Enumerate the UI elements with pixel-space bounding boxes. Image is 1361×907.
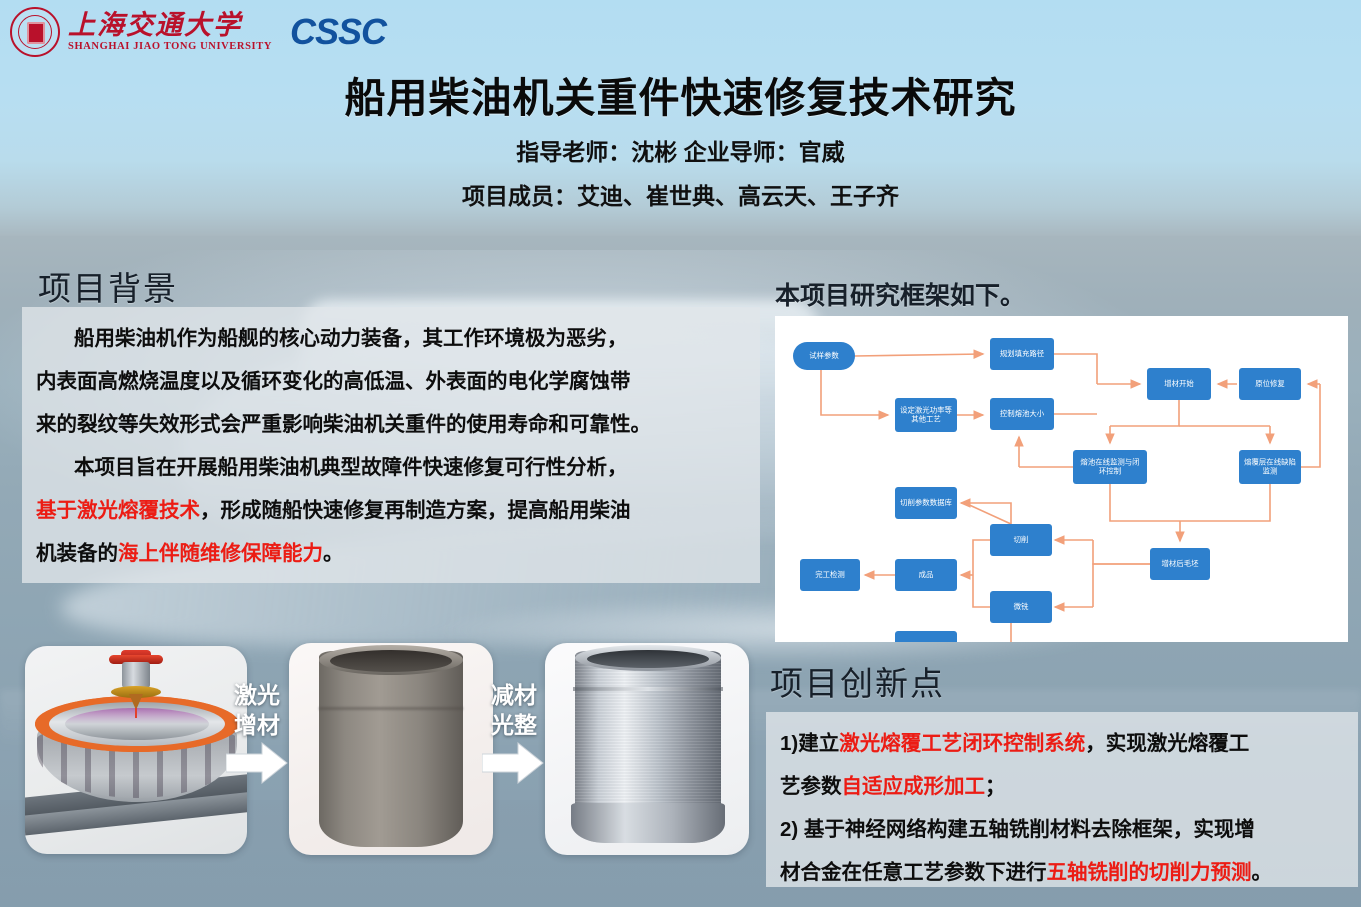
flow-node-label: 试样参数 <box>809 351 839 360</box>
background-p2-line3-pre: 机装备的 <box>36 542 118 565</box>
background-p2-line3: 机装备的海上伴随维修保障能力。 <box>36 532 746 575</box>
flow-node-set-laser-power: 设定激光功率等其他工艺 <box>895 398 957 432</box>
process-label-laser-additive: 激光 增材 <box>222 680 292 740</box>
flow-node-plan-fill-path: 规划填充路径 <box>990 338 1054 370</box>
background-highlight-sea-maintenance: 海上伴随维修保障能力 <box>118 542 323 565</box>
innovation-item1-line2-post: ； <box>985 775 1006 798</box>
nozzle-body <box>122 662 150 688</box>
sjtu-seal-icon <box>10 7 60 57</box>
innovation-highlight-adaptive: 自适应成形加工 <box>842 775 986 798</box>
innovation-highlight-closed-loop: 激光熔覆工艺闭环控制系统 <box>839 732 1085 755</box>
background-p1-line3: 来的裂纹等失效形式会严重影响柴油机关重件的使用寿命和可靠性。 <box>36 403 746 446</box>
flow-node-label: 切削 <box>1014 535 1029 544</box>
flow-node-label: 监测 <box>1263 466 1278 475</box>
innovation-item2-line2: 材合金在任意工艺参数下进行五轴铣削的切削力预测。 <box>780 851 1344 894</box>
background-p2-line3-post: 。 <box>323 542 344 565</box>
flow-node-micro-milling: 微铣 <box>990 591 1052 623</box>
members-line: 项目成员：艾迪、崔世典、高云天、王子齐 <box>0 177 1361 211</box>
laser-nozzle-icon <box>109 650 163 720</box>
innovation-item1-line2: 艺参数自适应成形加工； <box>780 765 1344 808</box>
section-heading-innovation: 项目创新点 <box>770 657 945 705</box>
flow-node-label: 其他工艺 <box>911 414 941 423</box>
process-arrow-2-icon <box>482 742 544 784</box>
flow-node-sample-params: 试样参数 <box>793 342 855 370</box>
process-label-subtractive-line1: 减材 <box>478 680 550 710</box>
process-label-subtractive-line2: 光整 <box>478 710 550 740</box>
advisors-line: 指导老师：沈彬 企业导师：官威 <box>0 133 1361 167</box>
flow-node-label: 控制熔池大小 <box>1000 409 1045 418</box>
flow-node-label: 规划填充路径 <box>1000 349 1045 358</box>
framework-flowchart-panel: 试样参数规划填充路径设定激光功率等其他工艺控制熔池大小增材开始原位修复熔池在线监… <box>775 316 1348 642</box>
flow-node-cladding-defect: 熔覆层在线缺陷监测 <box>1239 450 1301 484</box>
blank-cup-body <box>319 651 463 847</box>
flow-node-insitu-repair: 原位修复 <box>1239 368 1301 400</box>
framework-flowchart-svg: 试样参数规划填充路径设定激光功率等其他工艺控制熔池大小增材开始原位修复熔池在线监… <box>775 316 1348 642</box>
finished-cup-foot <box>571 803 725 843</box>
flow-node-product: 成品 <box>895 559 957 591</box>
background-p1-line1: 船用柴油机作为船舰的核心动力装备，其工作环境极为恶劣， <box>36 317 746 360</box>
innovation-item1-pre: 1)建立 <box>780 732 839 755</box>
page-title: 船用柴油机关重件快速修复技术研究 <box>0 64 1361 124</box>
innovation-item2-line2-post: 。 <box>1252 861 1273 884</box>
innovation-highlight-force-prediction: 五轴铣削的切削力预测 <box>1047 861 1252 884</box>
flow-node-cutting-param-db: 切削参数数据库 <box>895 487 957 519</box>
flow-node-micro-mill-param-db: 微铣参数数据库 <box>895 631 957 642</box>
background-p1-line2: 内表面高燃烧温度以及循环变化的高低温、外表面的电化学腐蚀带 <box>36 360 746 403</box>
sjtu-wordmark: 上海交通大学 SHANGHAI JIAO TONG UNIVERSITY <box>68 12 272 52</box>
process-image-finished-part <box>545 643 749 855</box>
process-image-cad-model <box>25 646 247 854</box>
innovation-text-panel: 1)建立激光熔覆工艺闭环控制系统，实现激光熔覆工 艺参数自适应成形加工； 2) … <box>766 712 1358 887</box>
blank-cup-bore <box>330 650 452 672</box>
laser-beam <box>135 708 137 718</box>
background-p2-line2-rest: ，形成随船快速修复再制造方案，提高船用柴油 <box>200 499 631 522</box>
cssc-logo: CSSC <box>290 14 386 50</box>
innovation-item1-mid: ，实现激光熔覆工 <box>1085 732 1249 755</box>
background-p2-line1: 本项目旨在开展船用柴油机典型故障件快速修复可行性分析， <box>36 446 746 489</box>
innovation-item1-line2-pre: 艺参数 <box>780 775 842 798</box>
process-label-laser-line2: 增材 <box>222 710 292 740</box>
flow-node-additive-blank: 增材后毛坯 <box>1150 548 1210 580</box>
sjtu-name-en: SHANGHAI JIAO TONG UNIVERSITY <box>68 41 272 52</box>
flow-node-meltpool-monitor: 熔池在线监测与闭环控制 <box>1073 450 1147 484</box>
innovation-item1-line1: 1)建立激光熔覆工艺闭环控制系统，实现激光熔覆工 <box>780 722 1344 765</box>
innovation-item2-line2-pre: 材合金在任意工艺参数下进行 <box>780 861 1047 884</box>
background-p2-line2: 基于激光熔覆技术，形成随船快速修复再制造方案，提高船用柴油 <box>36 489 746 532</box>
flow-node-final-inspection: 完工检测 <box>800 559 860 591</box>
flow-node-label: 环控制 <box>1099 466 1121 475</box>
process-label-laser-line1: 激光 <box>222 680 292 710</box>
flow-node-label: 切削参数数据库 <box>900 498 952 507</box>
flow-node-label: 增材开始 <box>1164 379 1194 388</box>
background-text-panel: 船用柴油机作为船舰的核心动力装备，其工作环境极为恶劣， 内表面高燃烧温度以及循环… <box>22 307 760 583</box>
flow-node-label: 完工检测 <box>815 570 845 579</box>
flow-node-label: 微铣 <box>1014 602 1029 611</box>
process-arrow-1-icon <box>226 742 288 784</box>
finished-cup-bore <box>587 650 709 668</box>
process-image-as-built-blank <box>289 643 493 855</box>
logo-row: 上海交通大学 SHANGHAI JIAO TONG UNIVERSITY CSS… <box>10 4 386 60</box>
blank-cup-seam <box>319 707 463 710</box>
finished-cup-step <box>573 687 723 691</box>
sjtu-name-cn: 上海交通大学 <box>68 12 272 39</box>
flow-node-box <box>895 631 957 642</box>
flow-node-cutting: 切削 <box>990 524 1052 556</box>
section-heading-framework: 本项目研究框架如下。 <box>775 276 1025 312</box>
process-label-subtractive-finishing: 减材 光整 <box>478 680 550 740</box>
sjtu-logo: 上海交通大学 SHANGHAI JIAO TONG UNIVERSITY <box>10 7 272 57</box>
flow-node-label: 增材后毛坯 <box>1162 559 1200 568</box>
innovation-item2-line1: 2) 基于神经网络构建五轴铣削材料去除框架，实现增 <box>780 808 1344 851</box>
flow-node-additive-start: 增材开始 <box>1147 368 1211 400</box>
poster-canvas: 上海交通大学 SHANGHAI JIAO TONG UNIVERSITY CSS… <box>0 0 1361 907</box>
section-heading-background: 项目背景 <box>38 262 178 310</box>
background-highlight-laser-cladding: 基于激光熔覆技术 <box>36 499 200 522</box>
flow-node-label: 成品 <box>919 570 934 579</box>
flow-node-control-melt-pool: 控制熔池大小 <box>990 398 1054 430</box>
flow-node-label: 原位修复 <box>1255 379 1285 388</box>
